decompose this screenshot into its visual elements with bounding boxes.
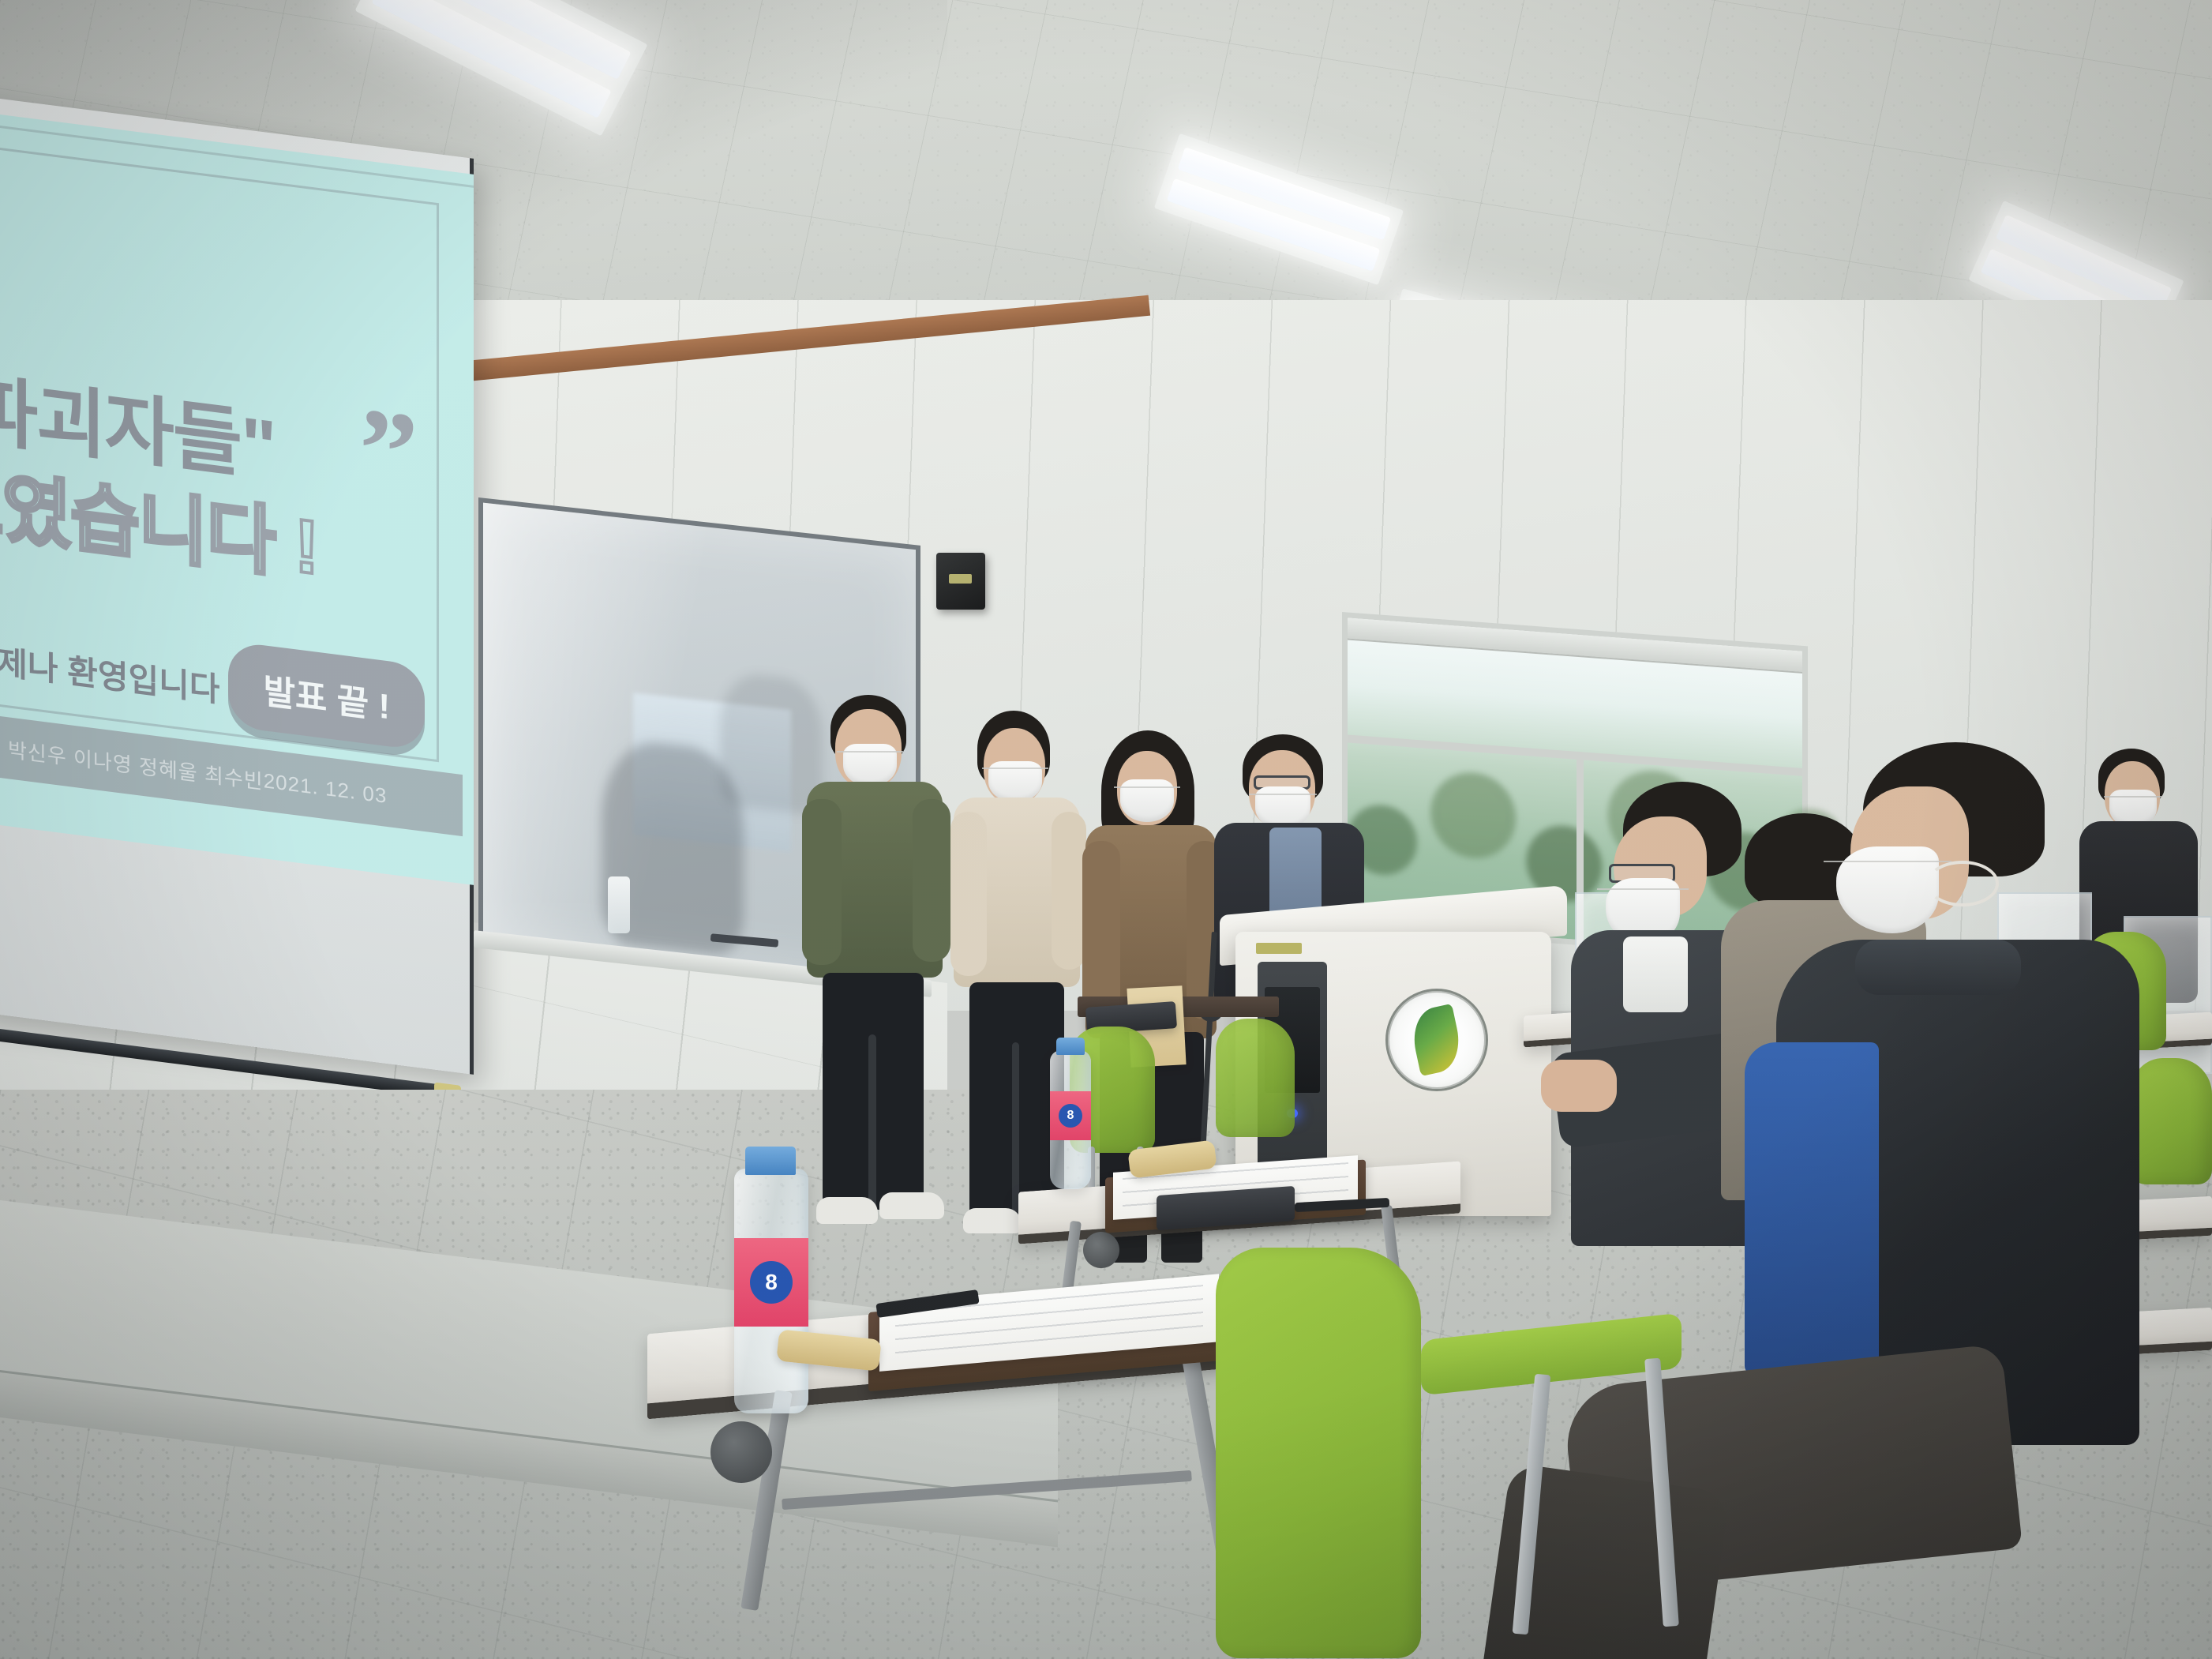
presenter-3-mask	[1120, 779, 1174, 822]
presenter-1-mask	[843, 744, 897, 786]
presenter-1-shoe-right	[879, 1192, 944, 1219]
audience-1-hand	[1541, 1060, 1617, 1112]
audience-3-collar	[1855, 940, 2021, 995]
presenter-2-arm-left	[950, 812, 987, 976]
presenter-1-leg-gap	[868, 1034, 876, 1208]
audience-1-shirt-collar	[1623, 936, 1688, 1012]
presenter-2-mask	[988, 761, 1042, 802]
podium-university-emblem	[1385, 989, 1488, 1091]
presenter-2-shoe-left	[963, 1208, 1022, 1233]
desk-front-knob[interactable]	[710, 1421, 772, 1483]
wall-speaker	[936, 553, 985, 610]
audience-3-mask-strap	[1926, 861, 1999, 906]
presentation-slide: ” "비파괴자들" 발표였습니다 ! 질문은 언제나 환영입니다 :) 발표 끝…	[0, 111, 474, 885]
bottle-label-middle: 8	[1050, 1091, 1091, 1140]
audience-3-blue-top	[1745, 1042, 1879, 1374]
chair-right-2[interactable]	[2131, 1058, 2212, 1184]
speaker-label	[949, 574, 972, 584]
bottle-cap-front	[745, 1147, 796, 1175]
presenter-3-arm-left	[1082, 841, 1120, 1023]
presenter-1-shoe-left	[816, 1197, 878, 1224]
chair-foreground[interactable]	[1216, 1248, 1421, 1658]
bottle-badge-middle: 8	[1059, 1104, 1082, 1128]
whiteboard-figure-reflection-2	[720, 670, 823, 816]
water-bottle-middle[interactable]: 8	[1050, 1050, 1091, 1189]
slide-footer-date: 2021. 12. 03	[264, 768, 388, 809]
water-bottle-front[interactable]: 8	[734, 1169, 808, 1413]
desk-middle-knob[interactable]	[1083, 1232, 1119, 1268]
quote-mark-icon: ”	[359, 413, 418, 491]
presenter-1-arm-right	[913, 799, 950, 962]
photo-scene: ” "비파괴자들" 발표였습니다 ! 질문은 언제나 환영입니다 :) 발표 끝…	[0, 0, 2212, 1659]
presenter-1-arm-left	[802, 799, 842, 965]
bottle-badge-front: 8	[750, 1261, 793, 1304]
podium-label-plate	[1256, 943, 1302, 954]
projection-screen: ” "비파괴자들" 발표였습니다 ! 질문은 언제나 환영입니다 :) 발표 끝…	[0, 95, 474, 1075]
slide-footer-names: 박신우 이나영 정혜울 최수빈	[8, 734, 264, 795]
bottle-cap-middle	[1056, 1038, 1085, 1055]
presenter-2-arm-right	[1052, 812, 1086, 970]
chair-back-row-2[interactable]	[1216, 1019, 1295, 1137]
bottle-label-front: 8	[734, 1238, 808, 1327]
hand-sanitizer-bottle	[608, 876, 630, 933]
